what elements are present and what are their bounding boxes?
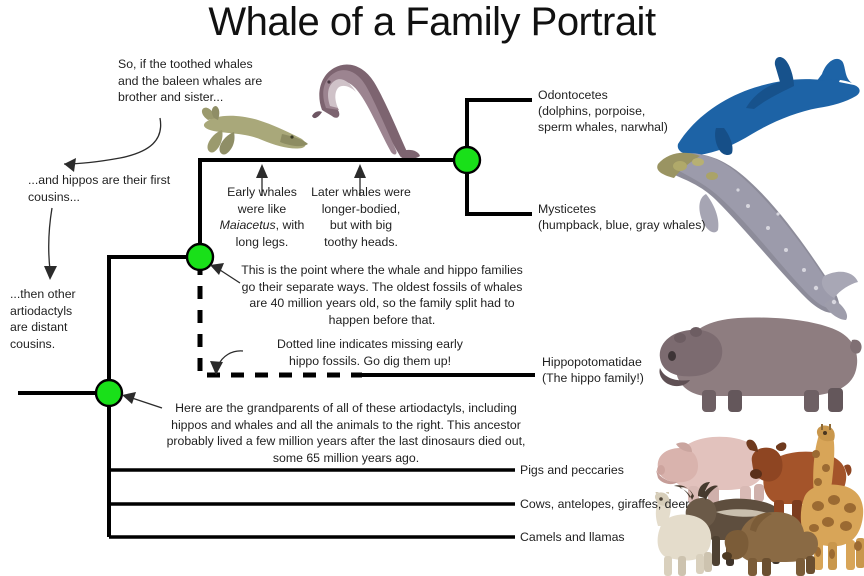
annotation-artio-line-4: cousins. (10, 336, 120, 353)
whale-split-node[interactable] (454, 147, 480, 173)
early-whales-line-4: long legs. (212, 234, 312, 251)
early-whales-line-1: Early whales (212, 184, 312, 201)
root-note-line-2: hippos and whales and all the animals to… (160, 417, 532, 434)
tip-label-mysticetes[interactable]: Mysticetes (humpback, blue, gray whales) (538, 202, 724, 234)
tip-label-cows[interactable]: Cows, antelopes, giraffes, deer (520, 497, 740, 513)
pointer-intro-arrowhead (64, 158, 76, 172)
annotation-root-ancestor: Here are the grandparents of all of thes… (160, 400, 532, 467)
pointer-hippos-to-artiodactyls (49, 208, 52, 270)
pointer-split-note-arrowhead (210, 263, 224, 275)
tip-camels-line-1: Camels and llamas (520, 530, 700, 546)
diagram-canvas: Whale of a Family Portrait (0, 0, 864, 576)
tip-hippo-line-1: Hippopotomatidae (542, 355, 722, 371)
tip-label-camels[interactable]: Camels and llamas (520, 530, 700, 546)
later-whales-line-1: Later whales were (306, 184, 416, 201)
annotation-early-whales: Early whales were like Maiacetus, with l… (212, 184, 312, 251)
early-whales-line-2: were like (212, 201, 312, 218)
dotted-note-line-2: hippo fossils. Go dig them up! (228, 353, 512, 370)
tip-mysticetes-line-2: (humpback, blue, gray whales) (538, 218, 724, 234)
annotation-artio-line-1: ...then other (10, 286, 120, 303)
root-note-line-3: probably lived a few million years after… (160, 433, 532, 450)
tip-mysticetes-line-1: Mysticetes (538, 202, 724, 218)
root-note-line-1: Here are the grandparents of all of thes… (160, 400, 532, 417)
maiacetus-genus: Maiacetus (220, 218, 276, 232)
later-whales-line-4: toothy heads. (306, 234, 416, 251)
annotation-later-whales: Later whales were longer-bodied, but wit… (306, 184, 416, 251)
tip-cows-line-1: Cows, antelopes, giraffes, deer (520, 497, 740, 513)
later-whales-line-3: but with big (306, 217, 416, 234)
later-whales-line-2: longer-bodied, (306, 201, 416, 218)
split-point-line-1: This is the point where the whale and hi… (238, 262, 526, 279)
whale-hippo-node[interactable] (187, 244, 213, 270)
annotation-intro-line-2: and the baleen whales are (118, 73, 298, 90)
tip-odontocetes-line-2: (dolphins, porpoise, (538, 104, 708, 120)
pointer-root-note (132, 398, 162, 408)
dotted-note-line-1: Dotted line indicates missing early (228, 336, 512, 353)
tip-odontocetes-line-1: Odontocetes (538, 88, 708, 104)
pointer-early-whales-arrowhead (256, 164, 268, 178)
pointer-intro-to-hippos (64, 118, 161, 164)
split-point-line-4: happen before that. (238, 312, 526, 329)
annotation-intro-line-1: So, if the toothed whales (118, 56, 298, 73)
pointer-hippos-arrowhead (44, 266, 57, 280)
pointer-root-note-arrowhead (122, 392, 136, 404)
tip-odontocetes-line-3: sperm whales, narwhal) (538, 120, 708, 136)
annotation-artio-line-2: artiodactyls (10, 303, 120, 320)
tip-hippo-line-2: (The hippo family!) (542, 371, 722, 387)
tip-label-hippopotomatidae[interactable]: Hippopotomatidae (The hippo family!) (542, 355, 722, 387)
annotation-hippos-cousins: ...and hippos are their first cousins... (28, 172, 214, 205)
tip-label-odontocetes[interactable]: Odontocetes (dolphins, porpoise, sperm w… (538, 88, 708, 136)
annotation-intro-line-3: brother and sister... (118, 89, 298, 106)
pointer-later-whales-arrowhead (354, 164, 366, 178)
tip-label-pigs[interactable]: Pigs and peccaries (520, 463, 700, 479)
annotation-hippos-line-2: cousins... (28, 189, 214, 206)
early-whales-line-3-rest: , with (276, 218, 305, 232)
early-whales-line-3: Maiacetus, with (212, 217, 312, 234)
annotation-dotted-line: Dotted line indicates missing early hipp… (228, 336, 512, 369)
annotation-artio-line-3: are distant (10, 319, 120, 336)
annotation-other-artiodactyls: ...then other artiodactyls are distant c… (10, 286, 120, 353)
annotation-intro: So, if the toothed whales and the baleen… (118, 56, 298, 106)
branch-whalehippo-stem (109, 257, 200, 393)
annotation-hippos-line-1: ...and hippos are their first (28, 172, 214, 189)
annotation-split-point: This is the point where the whale and hi… (238, 262, 526, 329)
split-point-line-3: are 40 million years old, so the family … (238, 295, 526, 312)
root-note-line-4: some 65 million years ago. (160, 450, 532, 467)
artiodactyl-root-node[interactable] (96, 380, 122, 406)
split-point-line-2: go their separate ways. The oldest fossi… (238, 279, 526, 296)
tip-pigs-line-1: Pigs and peccaries (520, 463, 700, 479)
pointer-split-note (220, 270, 240, 283)
